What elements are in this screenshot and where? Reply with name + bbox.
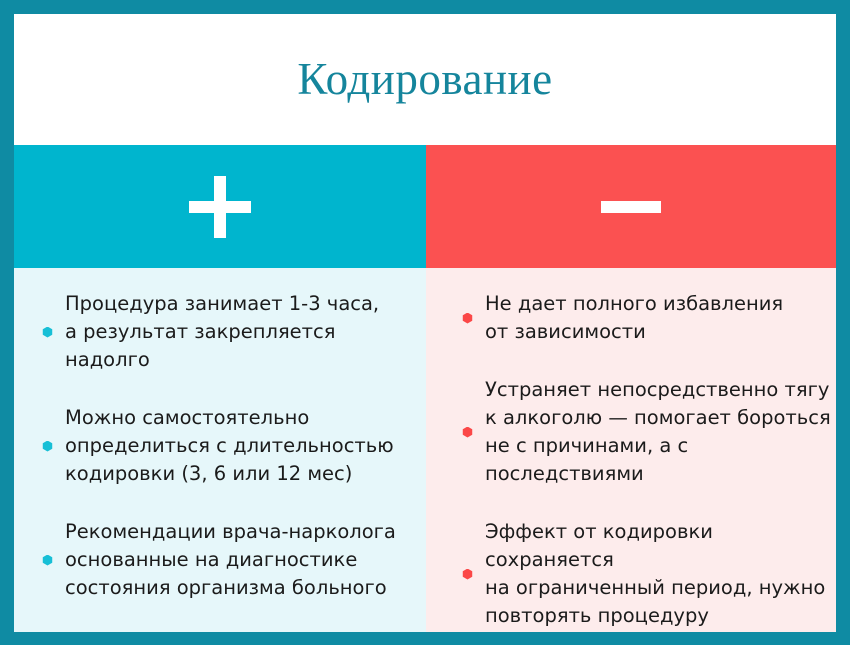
- list-item-text: Не дает полного избавления от зависимост…: [485, 290, 783, 346]
- list-item-text: Можно самостоятельно определиться с длит…: [65, 404, 394, 488]
- cons-header-cell: [426, 145, 836, 268]
- list-item-text: Эффект от кодировки сохраняется на огран…: [485, 518, 836, 630]
- pros-list: Процедура занимает 1-3 часа, а результат…: [14, 290, 426, 602]
- title-bar: Кодирование: [14, 14, 836, 145]
- cons-list: Не дает полного избавления от зависимост…: [426, 290, 836, 630]
- list-item: Не дает полного избавления от зависимост…: [426, 290, 836, 346]
- plus-icon: [189, 176, 251, 238]
- list-item: Устраняет непосредственно тягу к алкогол…: [426, 376, 836, 488]
- list-item: Рекомендации врача-нарколога основанные …: [14, 518, 426, 602]
- pros-column: Процедура занимает 1-3 часа, а результат…: [14, 268, 426, 632]
- sign-header-row: [14, 145, 836, 268]
- list-item-text: Устраняет непосредственно тягу к алкогол…: [485, 376, 836, 488]
- bullet-hexagon-icon: [462, 313, 473, 324]
- pros-header-cell: [14, 145, 426, 268]
- bullet-hexagon-icon: [462, 569, 473, 580]
- cons-column: Не дает полного избавления от зависимост…: [426, 268, 836, 632]
- page-title: Кодирование: [297, 57, 552, 102]
- minus-icon: [601, 201, 661, 213]
- list-item: Можно самостоятельно определиться с длит…: [14, 404, 426, 488]
- bullet-hexagon-icon: [462, 427, 473, 438]
- bullet-hexagon-icon: [42, 327, 53, 338]
- list-item: Процедура занимает 1-3 часа, а результат…: [14, 290, 426, 374]
- list-item-text: Рекомендации врача-нарколога основанные …: [65, 518, 396, 602]
- list-item: Эффект от кодировки сохраняется на огран…: [426, 518, 836, 630]
- content-panel: Кодирование Процедура занимает 1-3 часа,…: [14, 14, 836, 632]
- bullet-hexagon-icon: [42, 441, 53, 452]
- infographic-card: Кодирование Процедура занимает 1-3 часа,…: [0, 0, 850, 645]
- bullet-hexagon-icon: [42, 555, 53, 566]
- body-columns: Процедура занимает 1-3 часа, а результат…: [14, 268, 836, 632]
- list-item-text: Процедура занимает 1-3 часа, а результат…: [65, 290, 426, 374]
